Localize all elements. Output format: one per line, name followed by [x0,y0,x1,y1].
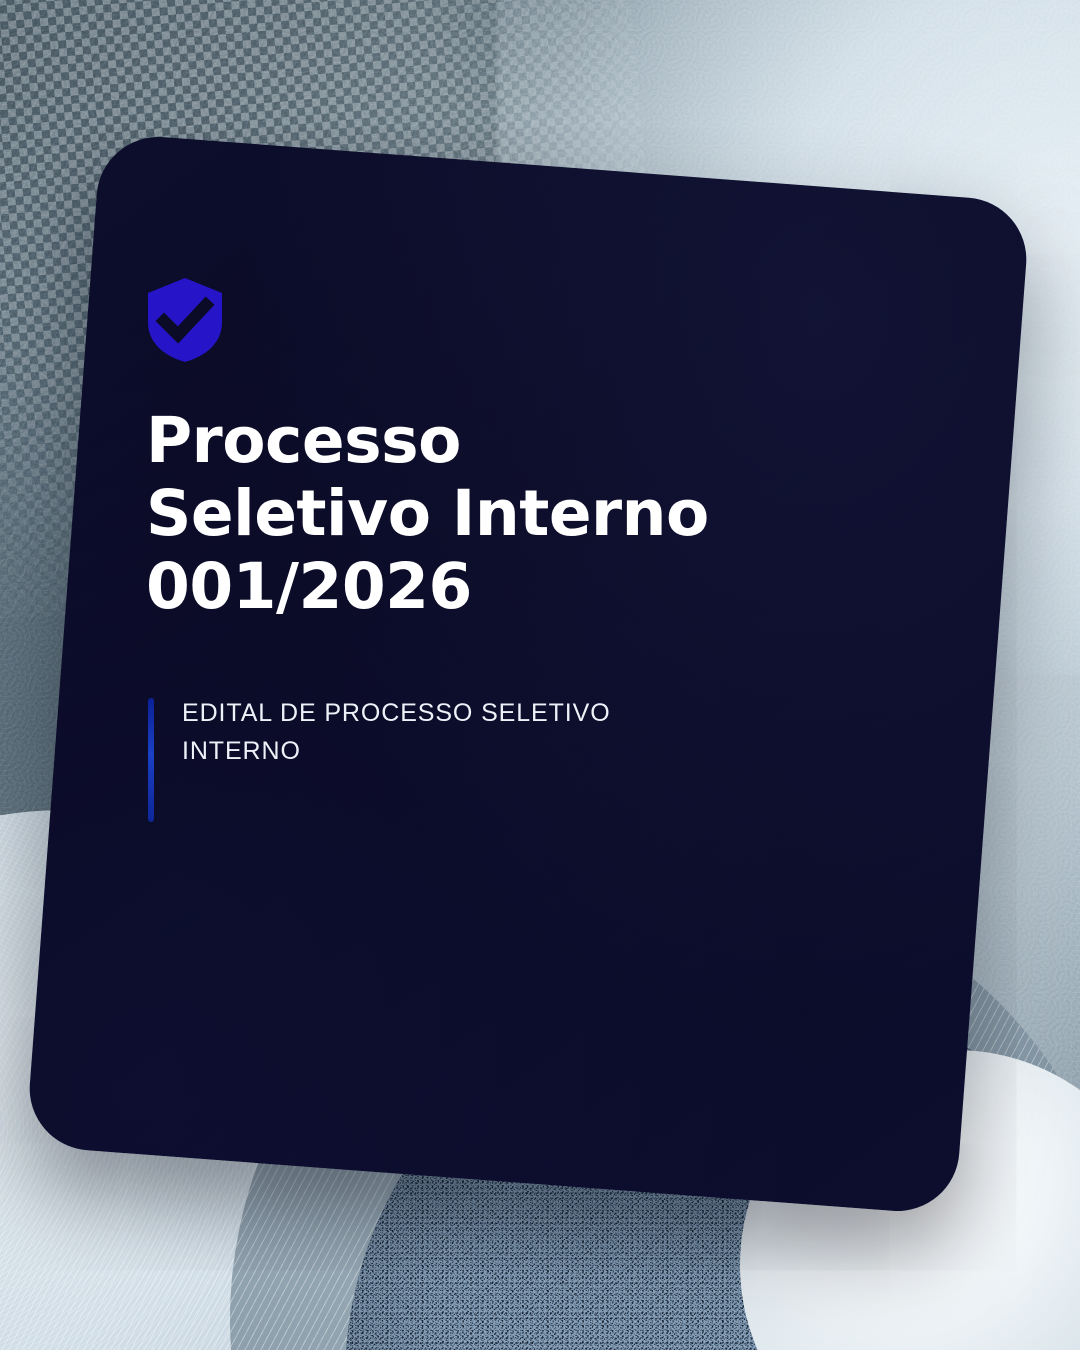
title-line-1: Processo [146,404,461,477]
announcement-card: Processo Seletivo Interno 001/2026 EDITA… [25,132,1031,1215]
title-line-2: Seletivo Interno [146,477,709,550]
shield-check-icon [148,278,222,362]
subtitle-text: EDITAL DE PROCESSO SELETIVO INTERNO [182,694,612,770]
card-surface: Processo Seletivo Interno 001/2026 EDITA… [25,132,1031,1215]
poster-canvas: Processo Seletivo Interno 001/2026 EDITA… [0,0,1080,1350]
title-line-3: 001/2026 [146,550,472,623]
page-title: Processo Seletivo Interno 001/2026 [146,404,846,623]
subtitle-block: EDITAL DE PROCESSO SELETIVO INTERNO [148,694,612,822]
accent-bar [148,698,154,822]
card-content: Processo Seletivo Interno 001/2026 EDITA… [62,166,994,1182]
